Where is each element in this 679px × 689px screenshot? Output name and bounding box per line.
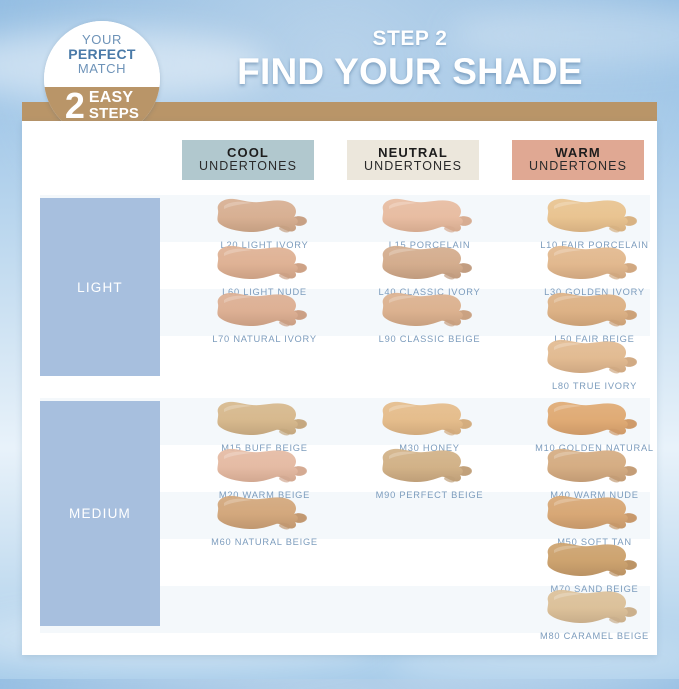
shade-swatch-blob [540,446,650,489]
shade-swatch[interactable] [210,243,320,286]
shade-swatch[interactable] [375,196,485,239]
undertone-subtitle: UNDERTONES [199,160,297,174]
shade-cell[interactable]: M80 CARAMEL BEIGE [512,587,677,641]
shade-cell[interactable]: L80 TRUE IVORY [512,337,677,391]
shade-swatch-blob [210,243,320,286]
shade-swatch-blob [540,540,650,583]
shade-swatch-blob [540,493,650,536]
shade-cell[interactable]: L20 LIGHT IVORY [182,196,347,250]
undertone-title: WARM [555,146,601,160]
shade-swatch-blob [210,446,320,489]
shade-swatch-blob [540,290,650,333]
page-header: STEP 2 FIND YOUR SHADE YOUR PERFECT MATC… [0,0,679,122]
undertone-title: COOL [227,146,269,160]
shade-swatch-blob [540,587,650,630]
shade-swatch-blob [210,399,320,442]
undertone-header-row: COOLUNDERTONESNEUTRALUNDERTONESWARMUNDER… [22,140,657,182]
shade-swatch-blob [375,196,485,239]
shade-name-label: L70 NATURAL IVORY [182,334,347,344]
shade-cell[interactable]: M30 HONEY [347,399,512,453]
shade-swatch[interactable] [375,399,485,442]
badge-steps-group: 2 EASY STEPS [44,89,160,122]
shade-cell[interactable]: M10 GOLDEN NATURAL [512,399,677,453]
perfect-match-badge: YOUR PERFECT MATCH 2 EASY STEPS [44,21,160,137]
step-label: STEP 2 [160,28,660,50]
badge-text-group: YOUR PERFECT MATCH [44,33,160,76]
shade-swatch[interactable] [375,243,485,286]
coverage-label-text: LIGHT [77,280,123,295]
shade-cell[interactable]: M40 WARM NUDE [512,446,677,500]
shade-swatch[interactable] [540,243,650,286]
shade-cell[interactable]: M70 SAND BEIGE [512,540,677,594]
shade-swatch-blob [375,290,485,333]
shade-swatch[interactable] [375,290,485,333]
coverage-label-text: MEDIUM [69,506,131,521]
shade-name-label: M60 NATURAL BEIGE [182,537,347,547]
shade-swatch[interactable] [210,493,320,536]
shade-cell[interactable]: L70 NATURAL IVORY [182,290,347,344]
shade-swatch-blob [540,196,650,239]
shade-cell[interactable]: M60 NATURAL BEIGE [182,493,347,547]
shade-swatch-blob [210,493,320,536]
shade-swatch[interactable] [540,493,650,536]
undertone-subtitle: UNDERTONES [529,160,627,174]
undertone-header-warm[interactable]: WARMUNDERTONES [512,140,644,180]
shade-swatch[interactable] [210,446,320,489]
shade-swatch[interactable] [540,540,650,583]
shade-swatch[interactable] [540,290,650,333]
shade-name-label: L90 CLASSIC BEIGE [347,334,512,344]
badge-line-your: YOUR [44,33,160,47]
page-title: FIND YOUR SHADE [160,52,660,93]
shade-cell[interactable]: L15 PORCELAIN [347,196,512,250]
shade-swatch[interactable] [375,446,485,489]
shade-cell[interactable]: M90 PERFECT BEIGE [347,446,512,500]
shade-swatch-blob [540,399,650,442]
undertone-title: NEUTRAL [378,146,448,160]
shade-swatch-blob [540,243,650,286]
undertone-header-cool[interactable]: COOLUNDERTONES [182,140,314,180]
shade-swatch[interactable] [540,196,650,239]
shade-cell[interactable]: L60 LIGHT NUDE [182,243,347,297]
shade-swatch[interactable] [210,290,320,333]
shade-name-label: M90 PERFECT BEIGE [347,490,512,500]
shade-chart-card: COOLUNDERTONESNEUTRALUNDERTONESWARMUNDER… [22,121,657,655]
badge-easy-label: EASY [89,90,139,106]
badge-line-perfect: PERFECT [44,47,160,62]
shade-swatch-blob [210,290,320,333]
shade-name-label: L80 TRUE IVORY [512,381,677,391]
shade-cell[interactable]: M50 SOFT TAN [512,493,677,547]
shade-name-label: M80 CARAMEL BEIGE [512,631,677,641]
shade-swatch-blob [375,243,485,286]
shade-swatch-blob [375,446,485,489]
shade-swatch[interactable] [540,399,650,442]
shade-swatch[interactable] [540,446,650,489]
shade-cell[interactable]: L50 FAIR BEIGE [512,290,677,344]
undertone-subtitle: UNDERTONES [364,160,462,174]
shade-cell[interactable]: L90 CLASSIC BEIGE [347,290,512,344]
shade-swatch[interactable] [540,587,650,630]
badge-line-match: MATCH [44,62,160,76]
title-block: STEP 2 FIND YOUR SHADE [160,28,660,93]
shade-swatch-blob [210,196,320,239]
coverage-label-light[interactable]: LIGHT [40,198,160,376]
shade-swatch[interactable] [210,399,320,442]
shade-cell[interactable]: M20 WARM BEIGE [182,446,347,500]
coverage-label-medium[interactable]: MEDIUM [40,401,160,626]
shade-swatch[interactable] [210,196,320,239]
shade-cell[interactable]: L30 GOLDEN IVORY [512,243,677,297]
shade-swatch-blob [375,399,485,442]
shade-cell[interactable]: L40 CLASSIC IVORY [347,243,512,297]
shade-swatch-blob [540,337,650,380]
badge-steps-words: EASY STEPS [89,90,139,121]
undertone-header-neutral[interactable]: NEUTRALUNDERTONES [347,140,479,180]
shade-cell[interactable]: M15 BUFF BEIGE [182,399,347,453]
badge-step-number: 2 [65,89,85,122]
badge-steps-label: STEPS [89,106,139,121]
shade-cell[interactable]: L10 FAIR PORCELAIN [512,196,677,250]
shade-swatch[interactable] [540,337,650,380]
